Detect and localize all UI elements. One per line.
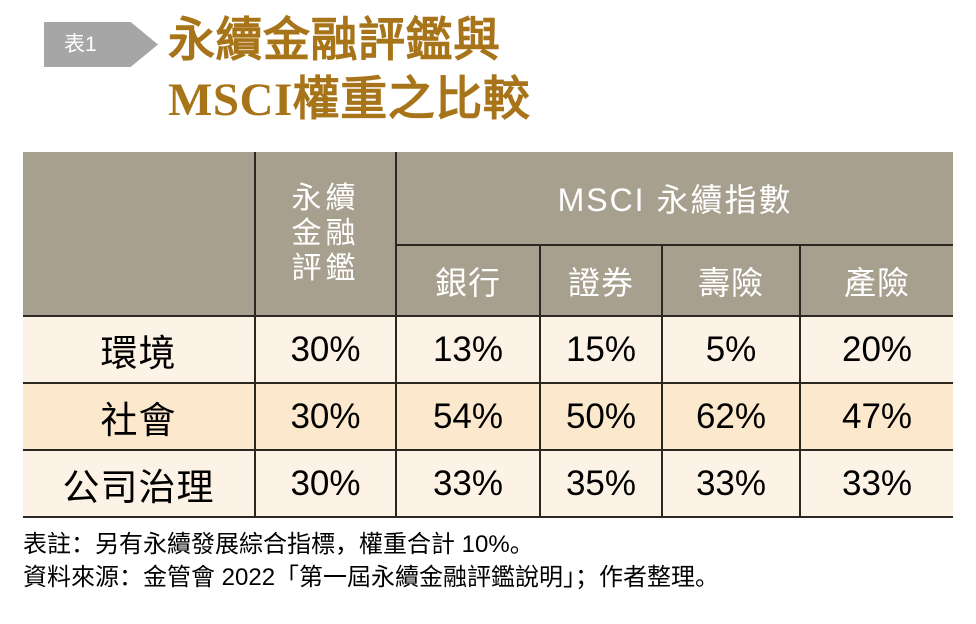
cell-social-bank: 54% <box>396 383 540 450</box>
table-footnotes: 表註：另有永續發展綜合指標，權重合計 10%。 資料來源：金管會 2022「第一… <box>23 528 963 594</box>
row-label-social: 社會 <box>23 383 255 450</box>
cell-governance-securities: 35% <box>540 450 662 517</box>
column-group-header-msci: MSCI 永續指數 <box>396 152 953 245</box>
figure-number-label: 表1 <box>64 34 97 55</box>
figure-header: 表1 永續金融評鑑與 MSCI權重之比較 <box>0 0 976 148</box>
cell-environment-property: 20% <box>800 316 953 383</box>
page-title-line-1: 永續金融評鑑與 <box>168 12 788 71</box>
row-label-environment: 環境 <box>23 316 255 383</box>
comparison-table: 永續 金融 評鑑 MSCI 永續指數 銀行 證券 壽險 產險 環境 30% 13… <box>23 152 953 518</box>
column-header-property-insurance: 產險 <box>800 245 953 316</box>
footnote-source: 資料來源：金管會 2022「第一屆永續金融評鑑說明」；作者整理。 <box>23 561 963 594</box>
table-header-row-top: 永續 金融 評鑑 MSCI 永續指數 <box>23 152 953 245</box>
table-row: 社會 30% 54% 50% 62% 47% <box>23 383 953 450</box>
column-header-life-insurance: 壽險 <box>662 245 800 316</box>
table-row: 環境 30% 13% 15% 5% 20% <box>23 316 953 383</box>
cell-governance-life: 33% <box>662 450 800 517</box>
column-header-self-line-1: 永續 <box>256 181 395 216</box>
column-header-self-line-2: 金融 <box>256 216 395 251</box>
column-header-securities: 證券 <box>540 245 662 316</box>
cell-environment-self: 30% <box>255 316 396 383</box>
cell-environment-bank: 13% <box>396 316 540 383</box>
cell-social-self: 30% <box>255 383 396 450</box>
cell-governance-bank: 33% <box>396 450 540 517</box>
figure-number-badge: 表1 <box>44 22 158 67</box>
row-label-governance: 公司治理 <box>23 450 255 517</box>
table-corner-cell <box>23 152 255 316</box>
cell-governance-property: 33% <box>800 450 953 517</box>
cell-environment-life: 5% <box>662 316 800 383</box>
cell-governance-self: 30% <box>255 450 396 517</box>
page-title-line-2: MSCI權重之比較 <box>168 71 788 130</box>
footnote-note: 表註：另有永續發展綜合指標，權重合計 10%。 <box>23 528 963 561</box>
cell-social-securities: 50% <box>540 383 662 450</box>
cell-environment-securities: 15% <box>540 316 662 383</box>
column-header-self-line-3: 評鑑 <box>256 251 395 286</box>
cell-social-property: 47% <box>800 383 953 450</box>
column-header-self-assessment: 永續 金融 評鑑 <box>255 152 396 316</box>
cell-social-life: 62% <box>662 383 800 450</box>
table-row: 公司治理 30% 33% 35% 33% 33% <box>23 450 953 517</box>
page-title: 永續金融評鑑與 MSCI權重之比較 <box>168 12 788 130</box>
column-header-bank: 銀行 <box>396 245 540 316</box>
